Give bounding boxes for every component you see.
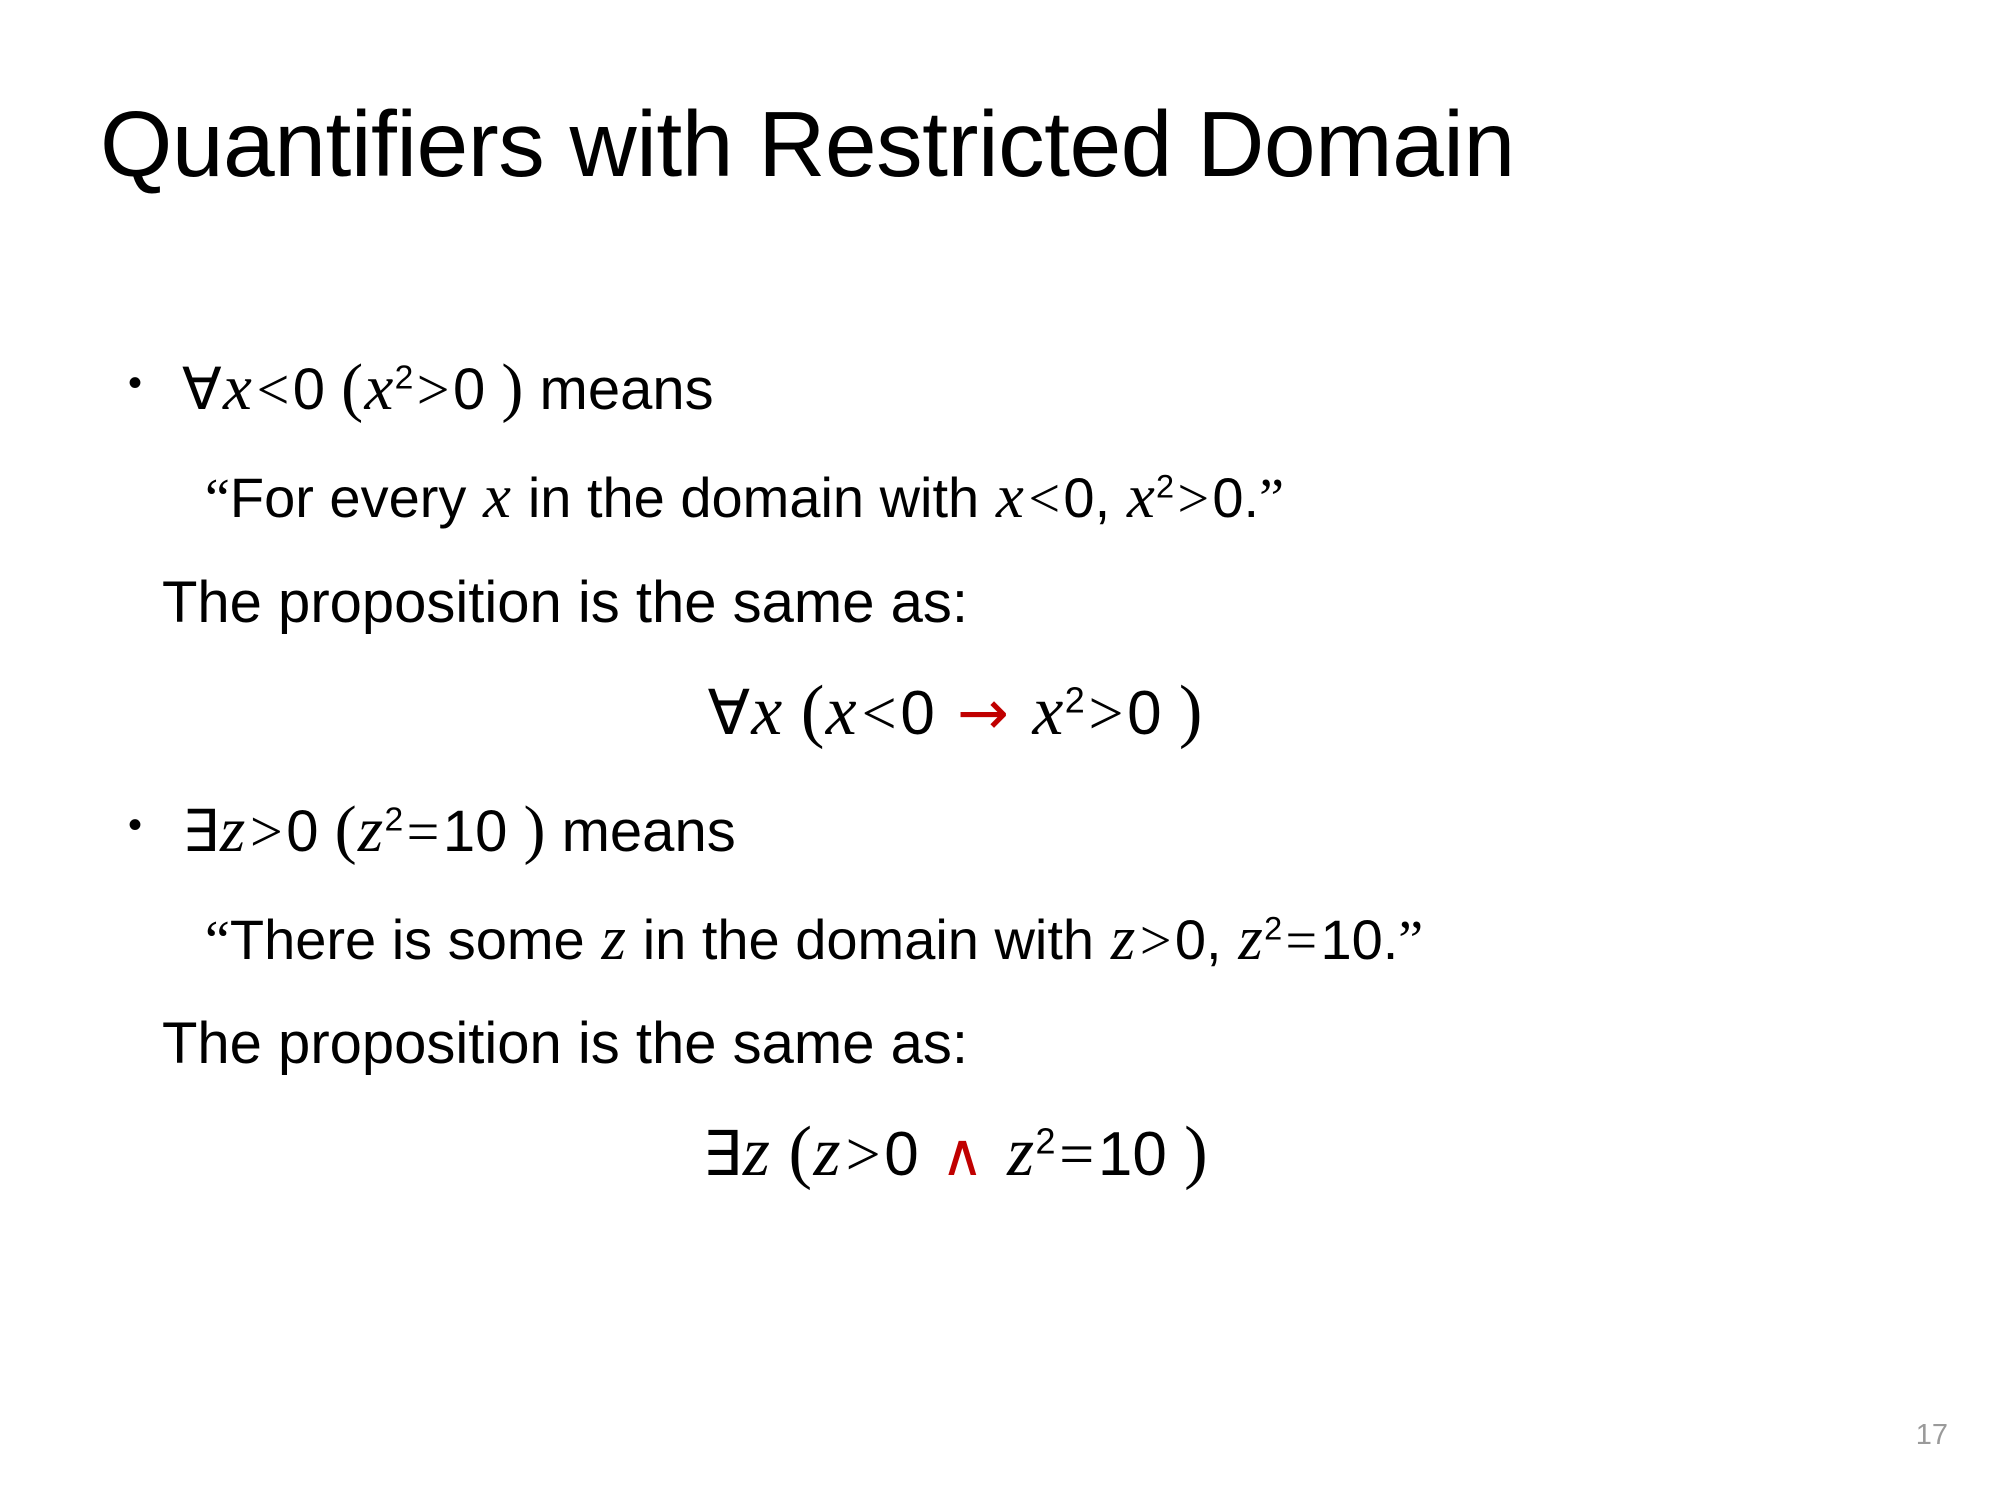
bullet-marker: •: [110, 355, 182, 411]
gloss-cond-value: 0,: [1063, 466, 1110, 529]
forall-icon: ∀: [708, 676, 750, 749]
gloss-lead: There is some: [230, 908, 585, 971]
close-quote: ”: [1259, 468, 1284, 530]
implies-arrow-icon: →: [952, 676, 1014, 749]
body-variable-z: z: [357, 794, 385, 866]
forall-icon: ∀: [182, 355, 222, 423]
formula-right-variable: z: [1006, 1114, 1036, 1191]
close-paren: ): [501, 351, 523, 424]
page-title: Quantifiers with Restricted Domain: [100, 96, 1900, 194]
greater-than-operator: >: [247, 799, 287, 864]
slide: Quantifiers with Restricted Domain • ∀x<…: [0, 0, 2000, 1500]
restriction-value: 0: [293, 357, 325, 422]
page-number: 17: [1916, 1419, 1948, 1452]
slide-body: • ∀x<0 (x2>0 ) means “For every x in the…: [110, 355, 1930, 1188]
exists-icon: ∃: [182, 797, 219, 865]
gloss-cond-variable: x: [995, 461, 1025, 531]
formula-right-operator: =: [1056, 1121, 1098, 1189]
gloss-cond-value: 0,: [1175, 908, 1222, 971]
close-paren: ): [1184, 1113, 1208, 1191]
formula-left-variable: x: [824, 673, 858, 750]
bullet-2-statement: ∃z>0 (z2=10 ) means: [182, 797, 1930, 863]
restriction-value: 0: [286, 799, 318, 864]
open-paren: (: [341, 351, 363, 424]
variable-x: x: [222, 352, 253, 424]
gloss-cond-variable: z: [1110, 903, 1137, 973]
body-variable-x: x: [363, 352, 394, 424]
exponent: 2: [384, 801, 403, 838]
formula-variable-z: z: [742, 1114, 772, 1191]
open-quote: “: [205, 468, 230, 530]
trailing-word: means: [540, 357, 714, 422]
bullet-1-statement: ∀x<0 (x2>0 ) means: [182, 355, 1930, 421]
gloss-concl-exponent: 2: [1264, 910, 1282, 946]
bullet-1-same-as-label: The proposition is the same as:: [110, 574, 1930, 632]
and-wedge-icon: ∧: [936, 1120, 989, 1189]
gloss-concl-operator: =: [1282, 910, 1320, 972]
bullet-marker: •: [110, 797, 182, 853]
bullet-2-gloss: “There is some z in the domain with z>0,…: [110, 907, 1930, 970]
gloss-cond-operator: <: [1025, 468, 1063, 530]
open-paren: (: [789, 1113, 813, 1191]
formula-left-value: 0: [900, 679, 934, 748]
formula-left-variable: z: [812, 1114, 842, 1191]
formula-right-variable: x: [1031, 673, 1065, 750]
trailing-word: means: [562, 799, 736, 864]
gloss-cond-operator: >: [1137, 910, 1175, 972]
formula-variable-x: x: [750, 673, 784, 750]
bullet-2-same-as-label: The proposition is the same as:: [110, 1015, 1930, 1073]
open-paren: (: [801, 672, 825, 750]
exists-icon: ∃: [702, 1117, 741, 1190]
close-quote: ”: [1398, 910, 1423, 972]
formula-right-operator: >: [1085, 680, 1127, 748]
body-value: 0: [453, 357, 485, 422]
equals-operator: =: [403, 799, 443, 864]
body-value: 10: [443, 799, 508, 864]
less-than-operator: <: [253, 357, 293, 422]
gloss-concl-value: 0.: [1212, 466, 1259, 529]
greater-than-operator: >: [413, 357, 453, 422]
formula-left-operator: <: [858, 680, 900, 748]
variable-z: z: [219, 794, 247, 866]
close-paren: ): [523, 793, 545, 866]
formula-right-exponent: 2: [1065, 679, 1085, 720]
formula-right-exponent: 2: [1036, 1121, 1056, 1162]
gloss-concl-variable: z: [1237, 903, 1264, 973]
formula-left-operator: >: [842, 1121, 884, 1189]
gloss-middle: in the domain with: [643, 908, 1094, 971]
exponent: 2: [395, 360, 414, 397]
gloss-concl-variable: x: [1126, 461, 1156, 531]
bullet-2-equivalent-formula: ∃z (z>0 ∧ z2=10 ): [110, 1117, 1930, 1188]
bullet-1-gloss: “For every x in the domain with x<0, x2>…: [110, 465, 1930, 528]
bullet-item-1: • ∀x<0 (x2>0 ) means: [110, 355, 1930, 421]
gloss-concl-operator: >: [1174, 468, 1212, 530]
formula-right-value: 0: [1127, 679, 1161, 748]
open-paren: (: [335, 793, 357, 866]
gloss-variable-x: x: [482, 461, 512, 531]
gloss-concl-exponent: 2: [1156, 468, 1174, 504]
gloss-middle: in the domain with: [528, 466, 979, 529]
gloss-concl-value: 10.: [1320, 908, 1398, 971]
bullet-item-2: • ∃z>0 (z2=10 ) means: [110, 797, 1930, 863]
bullet-1-equivalent-formula: ∀x (x<0 → x2>0 ): [110, 676, 1930, 747]
gloss-lead: For every: [230, 466, 467, 529]
close-paren: ): [1179, 672, 1203, 750]
gloss-variable-z: z: [600, 903, 627, 973]
open-quote: “: [205, 910, 230, 972]
formula-right-value: 10: [1098, 1120, 1167, 1189]
formula-left-value: 0: [884, 1120, 918, 1189]
